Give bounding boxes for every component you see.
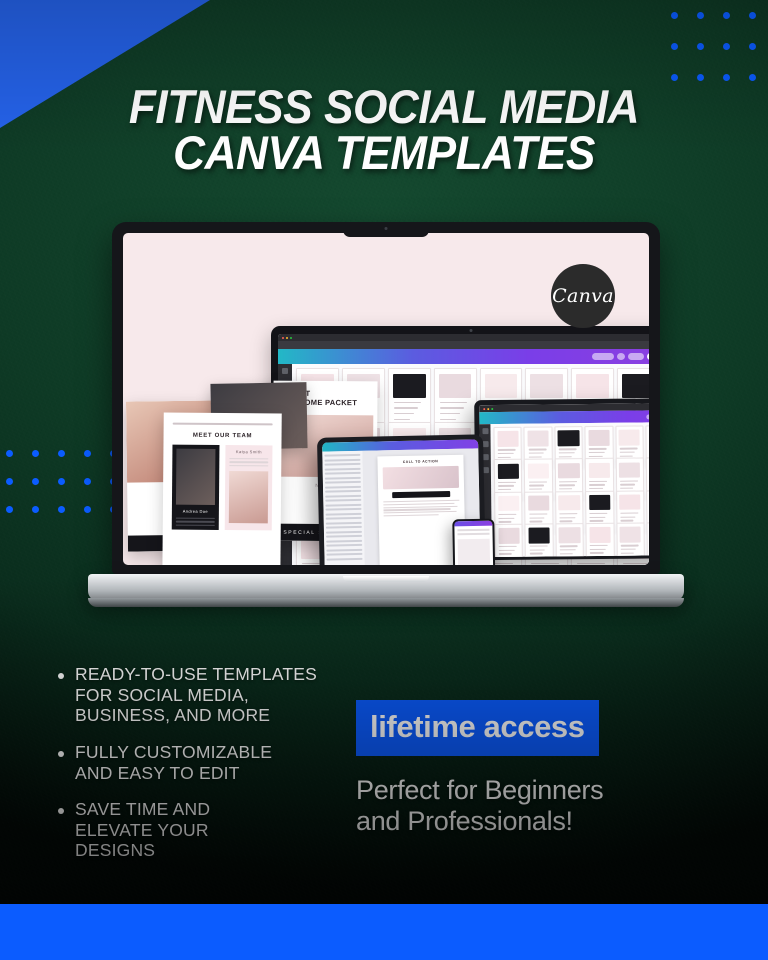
dot <box>58 450 65 457</box>
dot <box>32 478 39 485</box>
feature-list: READY-TO-USE TEMPLATES FOR SOCIAL MEDIA,… <box>58 664 378 877</box>
dot <box>749 12 756 19</box>
document-cta-button <box>392 491 450 498</box>
dot <box>671 74 678 81</box>
template-thumbnail[interactable] <box>525 523 554 557</box>
dot <box>723 12 730 19</box>
lifetime-access-badge: lifetime access <box>356 700 599 756</box>
avatar <box>617 353 625 360</box>
canva-logo-badge: Canva <box>551 264 615 328</box>
dot <box>671 12 678 19</box>
meet-our-team-card: MEET OUR TEAM Andrea Doe Katya Smith <box>162 412 281 565</box>
dot <box>723 43 730 50</box>
maximize-icon <box>290 337 292 339</box>
dot <box>84 450 91 457</box>
laptop-base <box>88 574 684 601</box>
list-item-label: SAVE TIME AND ELEVATE YOUR DESIGNS <box>75 799 210 861</box>
laptop-base-lip <box>88 598 684 607</box>
template-thumbnail[interactable] <box>616 522 645 557</box>
minimize-icon <box>286 337 288 339</box>
dot <box>84 478 91 485</box>
app-window-titlebar <box>278 334 649 341</box>
maximize-icon <box>491 408 493 410</box>
secondary-laptop-screen <box>479 403 649 557</box>
dot <box>58 506 65 513</box>
dot <box>6 450 13 457</box>
promo-block: lifetime access Perfect for Beginners an… <box>356 700 726 837</box>
canva-workspace <box>479 422 649 557</box>
poster-canvas: FITNESS SOCIAL MEDIA CANVA TEMPLATES Can… <box>0 0 768 960</box>
sidebar-icon[interactable] <box>482 428 488 434</box>
header-pill <box>592 353 614 360</box>
dot <box>697 12 704 19</box>
secondary-laptop-mockup <box>474 398 649 560</box>
template-thumbnail[interactable] <box>647 522 649 557</box>
bullet-icon <box>58 808 64 814</box>
list-item: SAVE TIME AND ELEVATE YOUR DESIGNS <box>58 799 378 861</box>
document-hero-image <box>383 466 459 490</box>
dot <box>6 478 13 485</box>
canva-header-bar <box>278 349 649 364</box>
laptop-screen: Canva <box>123 233 649 565</box>
header-pill <box>628 353 644 360</box>
share-button[interactable] <box>647 353 649 360</box>
dot <box>749 74 756 81</box>
minimize-icon <box>487 408 489 410</box>
dot <box>671 43 678 50</box>
template-thumbnail[interactable] <box>555 523 584 557</box>
list-item: FULLY CUSTOMIZABLE AND EASY TO EDIT <box>58 742 378 783</box>
close-icon <box>483 408 485 410</box>
list-item: READY-TO-USE TEMPLATES FOR SOCIAL MEDIA,… <box>58 664 378 726</box>
template-grid <box>490 422 649 557</box>
promo-subtitle: Perfect for Beginners and Professionals! <box>356 775 726 837</box>
dot <box>84 506 91 513</box>
dot <box>58 478 65 485</box>
laptop-mockup: Canva <box>112 222 660 617</box>
dot <box>6 506 13 513</box>
dot <box>749 43 756 50</box>
list-item-label: FULLY CUSTOMIZABLE AND EASY TO EDIT <box>75 742 272 783</box>
dot <box>32 450 39 457</box>
bullet-icon <box>58 673 64 679</box>
template-thumbnail[interactable] <box>586 523 615 558</box>
header-pill <box>646 414 649 419</box>
dot <box>723 74 730 81</box>
template-thumbnail[interactable] <box>494 523 523 557</box>
bullet-icon <box>58 751 64 757</box>
list-item-label: READY-TO-USE TEMPLATES FOR SOCIAL MEDIA,… <box>75 664 317 726</box>
document-heading: CALL TO ACTION <box>383 459 459 465</box>
bottom-accent-bar <box>0 904 768 960</box>
card-title: MEET OUR TEAM <box>173 432 273 439</box>
canva-side-panel <box>322 451 366 565</box>
browser-tabbar <box>278 341 649 349</box>
camera-notch-icon <box>343 222 429 237</box>
close-icon <box>282 337 284 339</box>
phone-mockup <box>452 519 495 565</box>
sidebar-icon[interactable] <box>282 368 288 374</box>
page-title: FITNESS SOCIAL MEDIA CANVA TEMPLATES <box>23 84 745 176</box>
dot <box>32 506 39 513</box>
dot <box>697 43 704 50</box>
phone-screen <box>454 521 493 565</box>
dot <box>697 74 704 81</box>
laptop-lid: Canva <box>112 222 660 574</box>
